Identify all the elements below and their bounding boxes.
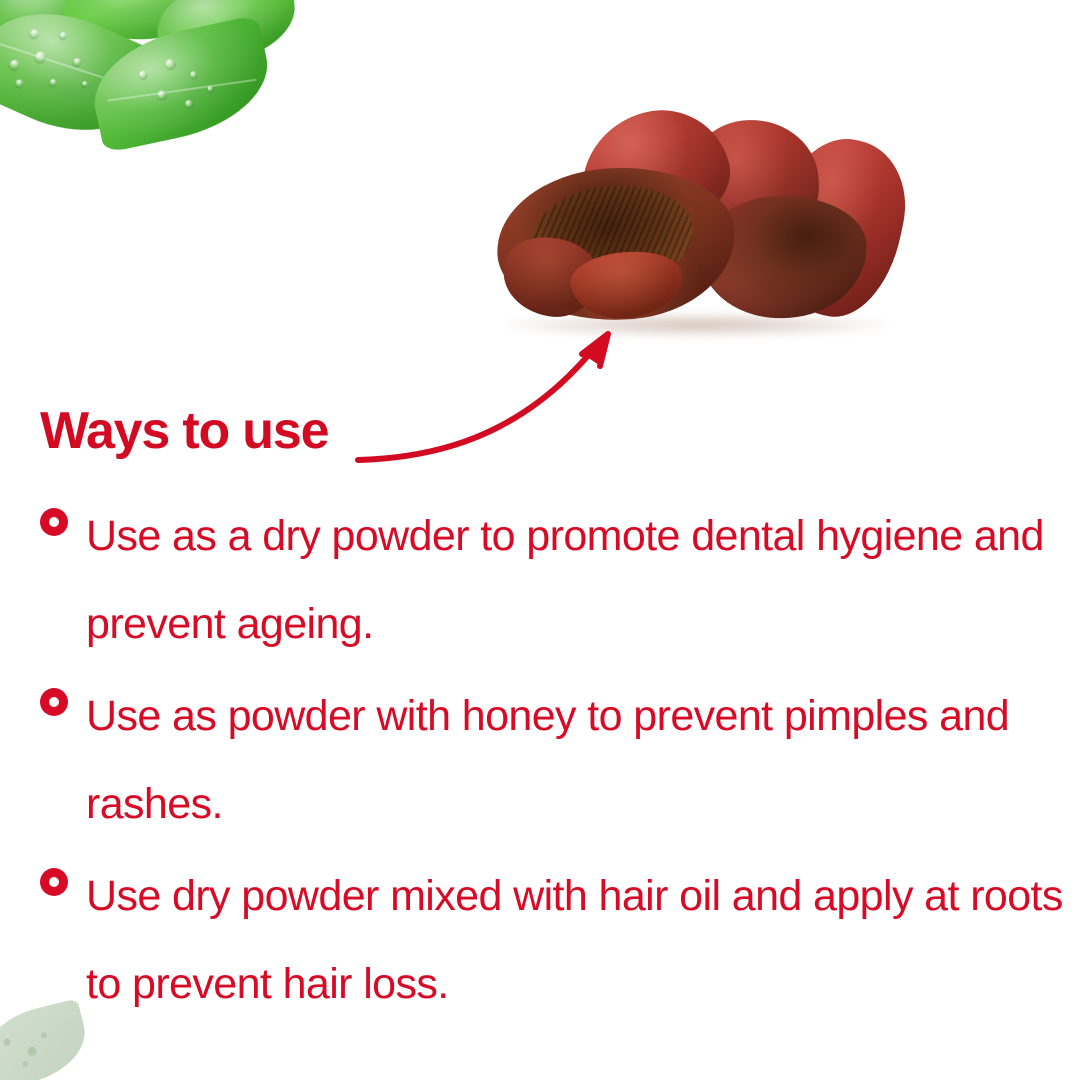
leaf-shape <box>151 0 301 71</box>
water-droplet <box>14 78 25 89</box>
water-droplet <box>48 78 57 87</box>
page-title: Ways to use <box>40 405 328 457</box>
peel-highlight <box>676 113 825 258</box>
curved-arrow-icon <box>350 320 630 480</box>
list-item-text: Use as powder with honey to prevent pimp… <box>86 672 1070 848</box>
leaves-decoration-top-left <box>0 0 270 170</box>
leaf-vein <box>0 43 136 89</box>
water-droplet <box>8 58 21 71</box>
peel-piece <box>698 192 870 323</box>
water-droplet <box>72 57 83 68</box>
peel-piece <box>756 127 918 328</box>
peel-highlight <box>497 230 605 323</box>
peel-highlight <box>756 127 918 328</box>
leaf-sheen <box>151 0 301 71</box>
peel-piece <box>568 246 686 323</box>
peel-piece <box>497 230 605 323</box>
peel-highlight <box>567 96 742 249</box>
list-item: Use as a dry powder to promote dental hy… <box>40 492 1070 668</box>
list-item-text: Use as a dry powder to promote dental hy… <box>86 492 1070 668</box>
peel-piece-main <box>492 160 740 328</box>
leaf-spot <box>27 1046 38 1057</box>
list-item: Use dry powder mixed with hair oil and a… <box>40 852 1070 1028</box>
peel-interior-texture <box>527 179 697 293</box>
leaf-shape-large <box>83 15 279 154</box>
peel-rim-highlight <box>492 160 740 328</box>
water-droplet <box>33 50 48 65</box>
leaf-sheen <box>0 0 165 158</box>
water-droplet <box>165 58 177 70</box>
leaf-sheen <box>62 0 221 48</box>
peel-highlight <box>492 160 740 328</box>
leaf-shape-large <box>0 0 165 158</box>
leaf-shape <box>62 0 221 48</box>
ring-bullet-icon <box>40 868 68 896</box>
list-item-text: Use dry powder mixed with hair oil and a… <box>86 852 1070 1028</box>
peel-shadow <box>507 312 887 338</box>
leaf-sheen <box>0 0 116 74</box>
ring-bullet-icon <box>40 688 68 716</box>
water-droplet <box>157 89 168 100</box>
list-item: Use as powder with honey to prevent pimp… <box>40 672 1070 848</box>
ring-bullet-icon <box>40 508 68 536</box>
water-droplet <box>58 31 67 40</box>
peel-highlight <box>568 246 686 323</box>
leaf-sheen <box>83 15 279 154</box>
water-droplet <box>81 80 89 88</box>
water-droplet <box>207 86 214 93</box>
peel-highlight <box>698 192 870 323</box>
water-droplet <box>189 70 197 78</box>
water-droplet <box>29 28 41 40</box>
peel-piece <box>567 96 742 249</box>
leaf-spot <box>21 1060 28 1067</box>
leaf-shape <box>0 0 116 74</box>
leaf-spot <box>3 1038 11 1046</box>
leaf-vein <box>108 79 256 101</box>
water-droplet <box>138 70 147 79</box>
pomegranate-peel-photo <box>487 110 912 340</box>
water-droplet <box>184 99 193 108</box>
leaf-spot <box>40 1032 47 1039</box>
peel-piece <box>676 113 825 258</box>
ways-to-use-list: Use as a dry powder to promote dental hy… <box>40 492 1070 1032</box>
poster-canvas: Ways to use Use as a dry powder to promo… <box>0 0 1080 1080</box>
